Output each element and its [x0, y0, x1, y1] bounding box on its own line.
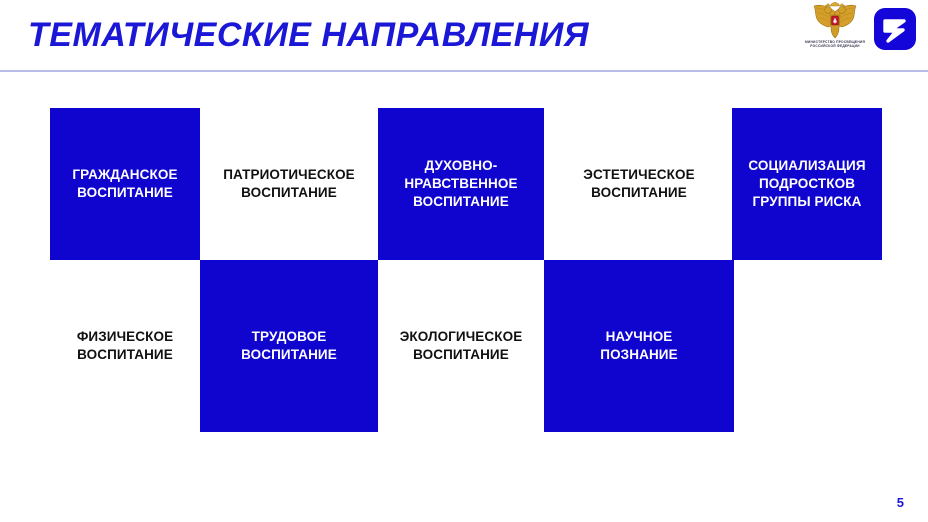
direction-label: НАУЧНОЕ ПОЗНАНИЕ — [600, 328, 677, 364]
russian-coat-of-arms-icon — [806, 2, 864, 39]
slide: ТЕМАТИЧЕСКИЕ НАПРАВЛЕНИЯ — [0, 0, 928, 522]
ministry-caption: МИНИСТЕРСТВО ПРОСВЕЩЕНИЯ РОССИЙСКОЙ ФЕДЕ… — [789, 40, 881, 49]
direction-box-trudovoe[interactable]: ТРУДОВОЕ ВОСПИТАНИЕ — [200, 260, 378, 432]
direction-label: ДУХОВНО- НРАВСТВЕННОЕ ВОСПИТАНИЕ — [404, 157, 517, 211]
direction-box-socializaciya[interactable]: СОЦИАЛИЗАЦИЯ ПОДРОСТКОВ ГРУППЫ РИСКА — [732, 108, 882, 260]
znanie-logo[interactable] — [874, 8, 916, 50]
direction-label: ЭКОЛОГИЧЕСКОЕ ВОСПИТАНИЕ — [400, 328, 523, 364]
direction-label: ПАТРИОТИЧЕСКОЕ ВОСПИТАНИЕ — [223, 166, 355, 202]
header-divider — [0, 70, 928, 72]
direction-box-fizicheskoe[interactable]: ФИЗИЧЕСКОЕ ВОСПИТАНИЕ — [50, 260, 200, 432]
direction-label: ФИЗИЧЕСКОЕ ВОСПИТАНИЕ — [77, 328, 173, 364]
direction-box-nauchnoe-poznanie[interactable]: НАУЧНОЕ ПОЗНАНИЕ — [544, 260, 734, 432]
ministry-logo: МИНИСТЕРСТВО ПРОСВЕЩЕНИЯ РОССИЙСКОЙ ФЕДЕ… — [789, 2, 881, 60]
direction-box-duhovno-nravstvennoe[interactable]: ДУХОВНО- НРАВСТВЕННОЕ ВОСПИТАНИЕ — [378, 108, 544, 260]
page-title: ТЕМАТИЧЕСКИЕ НАПРАВЛЕНИЯ — [28, 16, 589, 55]
direction-box-esteticheskoe[interactable]: ЭСТЕТИЧЕСКОЕ ВОСПИТАНИЕ — [544, 108, 734, 260]
znanie-z-icon — [874, 8, 916, 50]
direction-label: ЭСТЕТИЧЕСКОЕ ВОСПИТАНИЕ — [583, 166, 694, 202]
page-number: 5 — [897, 495, 904, 510]
direction-box-grazhdanskoe[interactable]: ГРАЖДАНСКОЕ ВОСПИТАНИЕ — [50, 108, 200, 260]
direction-label: ГРАЖДАНСКОЕ ВОСПИТАНИЕ — [72, 166, 177, 202]
direction-label: ТРУДОВОЕ ВОСПИТАНИЕ — [241, 328, 337, 364]
direction-box-ekologicheskoe[interactable]: ЭКОЛОГИЧЕСКОЕ ВОСПИТАНИЕ — [378, 260, 544, 432]
direction-box-patrioticheskoe[interactable]: ПАТРИОТИЧЕСКОЕ ВОСПИТАНИЕ — [200, 108, 378, 260]
direction-label: СОЦИАЛИЗАЦИЯ ПОДРОСТКОВ ГРУППЫ РИСКА — [748, 157, 865, 211]
